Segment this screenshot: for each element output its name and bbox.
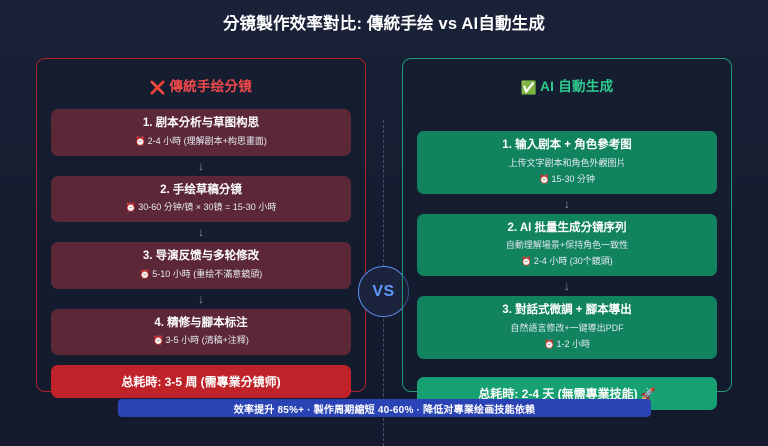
page-title: 分镜製作效率對比: 傳統手绘 vs AI自動生成 <box>0 10 768 34</box>
alarm-clock-icon: ⏰ <box>126 202 137 212</box>
alarm-clock-icon: ⏰ <box>135 136 146 146</box>
step-time-text: 1-2 小時 <box>557 339 591 349</box>
step-card: 3. 导演反馈与多轮修改 ⏰5-10 小時 (重绘不滿意鏡頭) <box>51 242 351 289</box>
step-time: ⏰1-2 小時 <box>425 338 709 351</box>
alarm-clock-icon: ⏰ <box>521 256 532 266</box>
step-title: 2. 手绘草稿分镜 <box>59 183 343 199</box>
step-card: 2. 手绘草稿分镜 ⏰30-60 分钟/镜 × 30镜 = 15-30 小時 <box>51 176 351 223</box>
step-time-text: 2-4 小時 (理解剧本+构思畫面) <box>148 136 267 146</box>
summary-footer: 效率提升 85%+ · 製作周期縮短 40-60% · 降低对專業绘画技能依赖 <box>118 399 651 417</box>
alarm-clock-icon: ⏰ <box>539 174 550 184</box>
step-desc: 上传文字剧本和角色外觀图片 <box>425 157 709 170</box>
step-card: 2. AI 批量生成分镜序列 自動理解場景+保持角色一致性 ⏰2-4 小時 (3… <box>417 214 717 277</box>
check-mark-icon: ✅ <box>521 80 538 95</box>
traditional-total-text: 总耗時: 3-5 周 (需專業分镜师) <box>121 375 280 389</box>
step-title: 3. 對話式微調 + 腳本導出 <box>425 303 709 319</box>
alarm-clock-icon: ⏰ <box>544 339 555 349</box>
step-time: ⏰2-4 小時 (理解剧本+构思畫面) <box>59 135 343 148</box>
step-time: ⏰15-30 分钟 <box>425 173 709 186</box>
step-time-text: 15-30 分钟 <box>552 174 596 184</box>
step-title: 2. AI 批量生成分镜序列 <box>425 221 709 237</box>
step-time: ⏰5-10 小時 (重绘不滿意鏡頭) <box>59 268 343 281</box>
infographic-page: 分镜製作效率對比: 傳統手绘 vs AI自動生成 ❌傳統手绘分镜 1. 剧本分析… <box>0 0 768 422</box>
panel-ai: ✅AI 自動生成 1. 输入剧本 + 角色參考图 上传文字剧本和角色外觀图片 ⏰… <box>402 58 732 392</box>
flow-arrow-icon: ↓ <box>51 222 351 242</box>
panel-traditional-title: ❌傳統手绘分镜 <box>51 75 351 96</box>
step-time-text: 2-4 小時 (30个鏡頭) <box>534 256 613 266</box>
cross-mark-icon: ❌ <box>150 80 167 95</box>
step-title: 4. 精修与腳本标注 <box>59 316 343 332</box>
flow-arrow-icon: ↓ <box>417 276 717 296</box>
traditional-steps: 1. 剧本分析与草图构思 ⏰2-4 小時 (理解剧本+构思畫面) ↓ 2. 手绘… <box>51 109 351 398</box>
step-title: 3. 导演反馈与多轮修改 <box>59 249 343 265</box>
flow-arrow-icon: ↓ <box>51 156 351 176</box>
alarm-clock-icon: ⏰ <box>153 335 164 345</box>
alarm-clock-icon: ⏰ <box>140 269 151 279</box>
step-time-text: 3-5 小時 (清稿+注释) <box>166 335 249 345</box>
step-time-text: 30-60 分钟/镜 × 30镜 = 15-30 小時 <box>138 202 276 212</box>
panel-ai-title-text: AI 自動生成 <box>540 79 613 94</box>
step-time: ⏰30-60 分钟/镜 × 30镜 = 15-30 小時 <box>59 201 343 214</box>
step-card: 1. 剧本分析与草图构思 ⏰2-4 小時 (理解剧本+构思畫面) <box>51 109 351 156</box>
step-time: ⏰2-4 小時 (30个鏡頭) <box>425 255 709 268</box>
step-desc: 自然語言修改+一键導出PDF <box>425 322 709 335</box>
panel-ai-title: ✅AI 自動生成 <box>417 75 717 96</box>
step-time: ⏰3-5 小時 (清稿+注释) <box>59 334 343 347</box>
step-title: 1. 输入剧本 + 角色參考图 <box>425 138 709 154</box>
step-title: 1. 剧本分析与草图构思 <box>59 116 343 132</box>
flow-arrow-icon: ↓ <box>417 194 717 214</box>
step-card: 3. 對話式微調 + 腳本導出 自然語言修改+一键導出PDF ⏰1-2 小時 <box>417 296 717 359</box>
ai-steps: 1. 输入剧本 + 角色參考图 上传文字剧本和角色外觀图片 ⏰15-30 分钟 … <box>417 109 717 410</box>
comparison-board: ❌傳統手绘分镜 1. 剧本分析与草图构思 ⏰2-4 小時 (理解剧本+构思畫面)… <box>0 58 768 394</box>
flow-arrow-icon: ↓ <box>51 289 351 309</box>
step-desc: 自動理解場景+保持角色一致性 <box>425 239 709 252</box>
traditional-total-bar: 总耗時: 3-5 周 (需專業分镜师) <box>51 365 351 398</box>
step-time-text: 5-10 小時 (重绘不滿意鏡頭) <box>152 269 262 279</box>
step-card: 4. 精修与腳本标注 ⏰3-5 小時 (清稿+注释) <box>51 309 351 356</box>
step-card: 1. 输入剧本 + 角色參考图 上传文字剧本和角色外觀图片 ⏰15-30 分钟 <box>417 131 717 194</box>
panel-traditional: ❌傳統手绘分镜 1. 剧本分析与草图构思 ⏰2-4 小時 (理解剧本+构思畫面)… <box>36 58 366 392</box>
panel-traditional-title-text: 傳統手绘分镜 <box>169 79 252 94</box>
